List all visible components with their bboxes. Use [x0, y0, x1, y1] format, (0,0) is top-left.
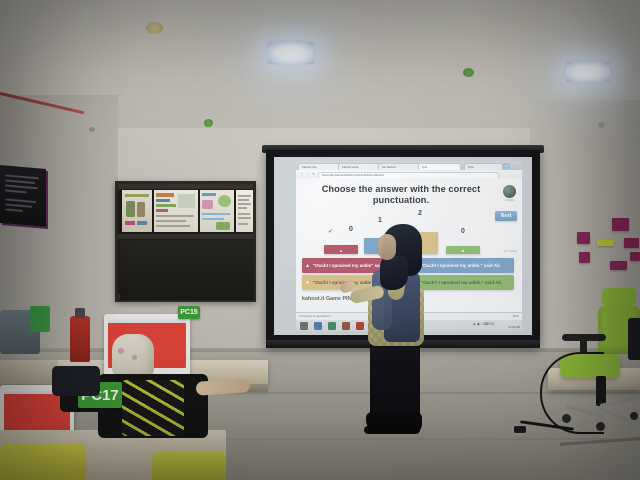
green-wall-card [30, 306, 50, 332]
new-tab-button[interactable]: + [503, 163, 510, 169]
avatar [503, 185, 516, 198]
tab-label: Drive [468, 166, 474, 169]
board-rail-mid [118, 234, 253, 239]
bar-fill-square: ■ [446, 246, 480, 254]
board-cork-surface [120, 240, 254, 300]
sticky-note-6 [630, 252, 640, 261]
bar-column-square: 0 ■ [446, 210, 480, 254]
poster-student-photo [122, 190, 152, 232]
light-core [268, 42, 314, 64]
poster-colorful-worksheet [154, 190, 198, 232]
status-text-right: 100% [512, 313, 519, 320]
taskbar-clock[interactable]: 10:42 AM [508, 325, 520, 329]
system-tray-icons[interactable]: ▲ ◉ ♪ ⌨ EN [473, 322, 494, 326]
status-text-left: Connecting to play.kahoot.it… [299, 313, 333, 320]
dark-wall-plaque [0, 165, 46, 227]
sticky-note-2 [577, 232, 590, 244]
fire-extinguisher [70, 316, 90, 362]
ceiling-dot-beige [146, 22, 163, 34]
circle-icon: ● [302, 280, 313, 286]
pc-tag-pc15: PC15 [178, 306, 200, 319]
tab-label: Get Started [382, 166, 395, 169]
power-plug [514, 426, 526, 433]
chair-seat-yellow-2 [152, 452, 226, 480]
light-core [566, 62, 610, 82]
arrow-left-icon[interactable]: ‹ [299, 172, 304, 176]
chair-side-panel [628, 318, 640, 360]
classroom-photo-scene: Kahoot! Play Kahoot! Home Get Started Qu… [0, 0, 640, 480]
tab-label: Kahoot! Play [302, 166, 317, 169]
backpack [52, 366, 100, 396]
poster-science-diagram [200, 190, 234, 232]
triangle-icon: ▲ [324, 248, 358, 253]
sticky-note-1 [612, 218, 629, 231]
new-tab-label: + [505, 163, 507, 168]
ceiling-light-right [566, 62, 610, 82]
avatar-caption: Ali Mohd [501, 199, 519, 203]
hijab-pattern-1 [118, 348, 124, 354]
chair-headrest [602, 288, 636, 306]
ceiling-light-left [268, 42, 314, 64]
arrow-right-icon[interactable]: › [305, 172, 310, 176]
chair-mesh-pattern [122, 380, 184, 436]
square-icon: ■ [446, 248, 480, 253]
answer-footnote: Ans: Nabila [504, 250, 517, 253]
fire-extinguisher-valve [75, 308, 85, 318]
chair-caster-3 [630, 412, 638, 420]
taskbar-start-icon[interactable] [300, 322, 308, 330]
ceiling-dot-grey-2 [598, 122, 605, 128]
chair-seat-yellow [0, 444, 86, 480]
classroom-notice-board [115, 181, 256, 302]
bar-value: 2 [402, 210, 438, 217]
bar-value: 0 [446, 228, 480, 235]
presenter [356, 222, 442, 434]
side-table [0, 360, 58, 384]
pc-tag-label: PC15 [180, 309, 198, 316]
reload-icon[interactable]: ↻ [311, 172, 316, 176]
ceiling-dot-grey [89, 127, 95, 132]
sticky-note-4 [579, 252, 590, 263]
tab-label: Kahoot! Home [342, 166, 359, 169]
hijab-pattern-2 [132, 355, 137, 360]
presenter-shoe [364, 426, 386, 434]
browser-tab-strip: Kahoot! Play Kahoot! Home Get Started Qu… [296, 161, 522, 170]
sticky-note-highlight [597, 240, 614, 246]
taskbar-folder-icon[interactable] [342, 322, 350, 330]
presenter-face [378, 234, 396, 260]
quiz-question-text: Choose the answer with the correct punct… [312, 184, 490, 206]
next-button[interactable]: Next [495, 211, 517, 221]
triangle-icon: ▲ [302, 263, 313, 269]
ceiling-dot-green-2 [204, 119, 213, 127]
bar-fill-triangle: ▲ [324, 245, 358, 254]
sticky-note-3 [624, 238, 639, 248]
board-rail-top [118, 184, 253, 189]
poster-text-sheet [236, 190, 253, 232]
bar-column-triangle: ✓ 0 ▲ [324, 210, 358, 254]
taskbar-explorer-icon[interactable] [328, 322, 336, 330]
sticky-note-5 [610, 261, 627, 270]
tab-label: Quiz [422, 166, 427, 169]
presenter-hijab-drape [380, 256, 408, 290]
ceiling-dot-green-1 [463, 68, 474, 77]
monitor-browser-bar [108, 318, 186, 323]
taskbar-search-icon[interactable] [314, 322, 322, 330]
